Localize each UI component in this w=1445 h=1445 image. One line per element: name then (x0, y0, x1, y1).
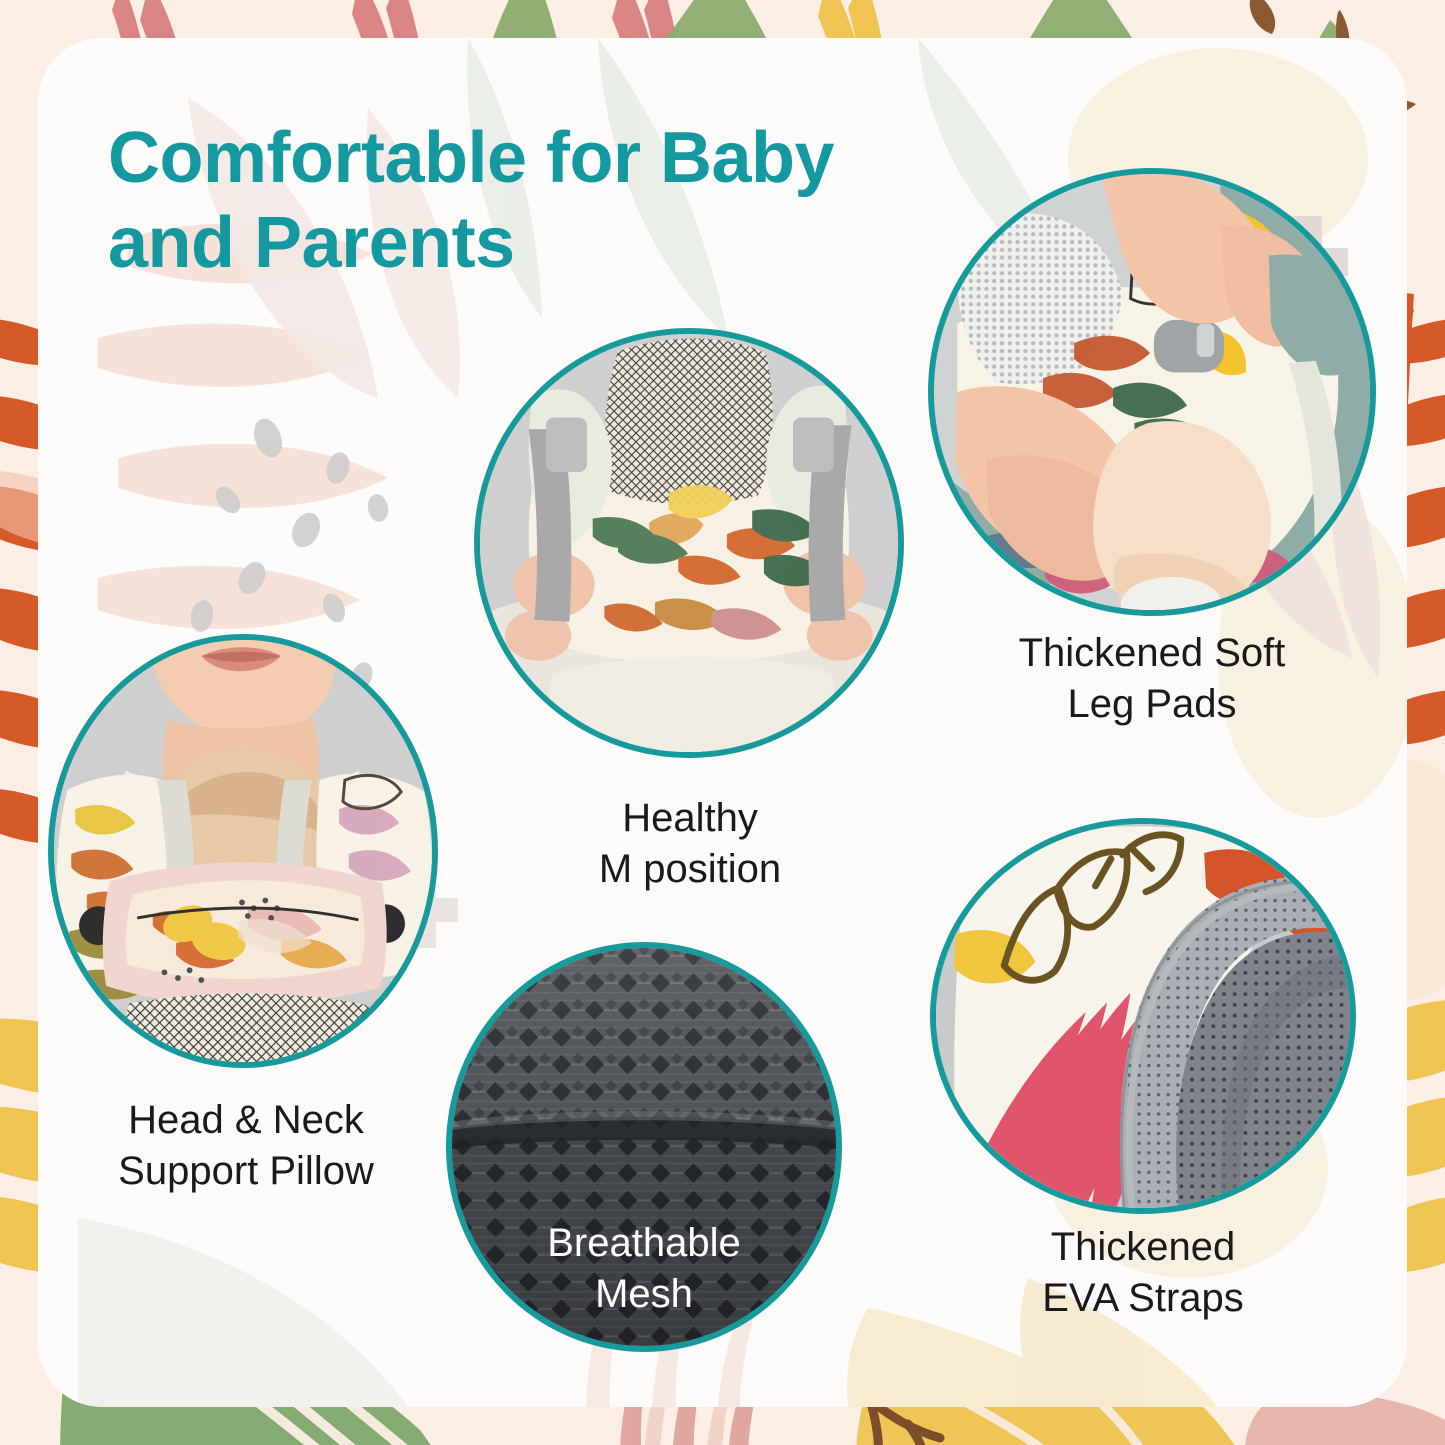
callout-m-position (474, 328, 904, 758)
photo-bubble-head-neck-pillow (48, 634, 438, 1068)
product-infographic-poster: Comfortable for Baby and Parents (0, 0, 1445, 1445)
caption-breathable-mesh: Breathable Mesh (468, 1218, 820, 1320)
photo-head-neck-pillow (48, 634, 438, 1068)
caption-m-position: Healthy M position (500, 793, 880, 895)
caption-eva-straps: Thickened EVA Straps (928, 1222, 1358, 1324)
photo-bubble-eva-straps (930, 818, 1356, 1214)
photo-bubble-m-position (474, 328, 904, 758)
caption-head-neck-pillow: Head & Neck Support Pillow (56, 1095, 436, 1197)
callout-eva-straps (930, 818, 1356, 1214)
caption-leg-pads: Thickened Soft Leg Pads (930, 628, 1374, 730)
photo-eva-straps (930, 818, 1356, 1214)
callout-head-neck-pillow (48, 634, 438, 1068)
page-title: Comfortable for Baby and Parents (108, 116, 1068, 286)
photo-m-position (474, 328, 904, 758)
